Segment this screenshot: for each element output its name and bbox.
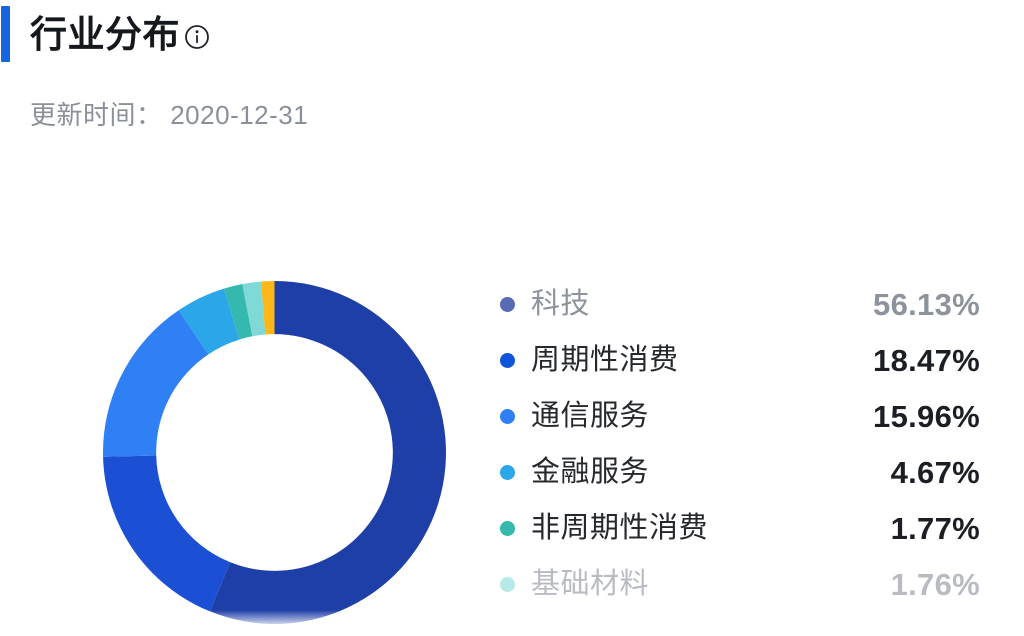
legend-item-金融服务[interactable]: 金融服务 4.67% (500, 444, 990, 500)
legend-item-科技[interactable]: 科技 56.13% (500, 276, 990, 332)
legend-item-非周期性消费[interactable]: 非周期性消费 1.77% (500, 500, 990, 556)
donut-slice-周期性消费[interactable]: 周期性消费 18.47% (103, 455, 230, 611)
donut-slice-group: 科技 56.13%周期性消费 18.47%通信服务 15.96%金融服务 4.6… (103, 281, 446, 624)
legend-label: 金融服务 (531, 458, 649, 487)
legend-value: 1.77% (891, 513, 980, 544)
legend-label: 非周期性消费 (531, 514, 708, 543)
page-title: 行业分布 (30, 16, 180, 53)
legend-dot-icon (500, 297, 515, 312)
legend-dot-icon (500, 409, 515, 424)
legend-label: 科技 (531, 290, 590, 319)
legend-value: 18.47% (873, 345, 980, 376)
donut-slice-通信服务[interactable]: 通信服务 15.96% (103, 310, 208, 457)
title-accent-bar (1, 6, 10, 62)
legend-dot-icon (500, 353, 515, 368)
legend-item-通信服务[interactable]: 通信服务 15.96% (500, 388, 990, 444)
donut-svg: 科技 56.13%周期性消费 18.47%通信服务 15.96%金融服务 4.6… (103, 281, 446, 624)
update-time: 更新时间： 2020-12-31 (30, 100, 308, 131)
legend-value: 56.13% (873, 289, 980, 320)
legend-dot-icon (500, 521, 515, 536)
legend-value: 15.96% (873, 401, 980, 432)
legend-item-基础材料[interactable]: 基础材料 1.76% (500, 556, 990, 612)
legend-label: 基础材料 (531, 570, 649, 599)
industry-donut-chart[interactable]: 科技 56.13%周期性消费 18.47%通信服务 15.96%金融服务 4.6… (103, 281, 446, 624)
legend-dot-icon (500, 465, 515, 480)
legend-value: 1.76% (891, 569, 980, 600)
chart-legend: 科技 56.13% 周期性消费 18.47% 通信服务 15.96% 金融服务 … (500, 276, 1000, 612)
industry-distribution-card: 行业分布 更新时间： 2020-12-31 科技 56.13%周期性消费 18.… (0, 0, 1024, 636)
header: 行业分布 (30, 8, 210, 60)
info-circle-icon[interactable] (184, 24, 210, 50)
legend-value: 4.67% (891, 457, 980, 488)
legend-dot-icon (500, 577, 515, 592)
legend-item-周期性消费[interactable]: 周期性消费 18.47% (500, 332, 990, 388)
legend-label: 周期性消费 (531, 346, 679, 375)
legend-label: 通信服务 (531, 402, 649, 431)
